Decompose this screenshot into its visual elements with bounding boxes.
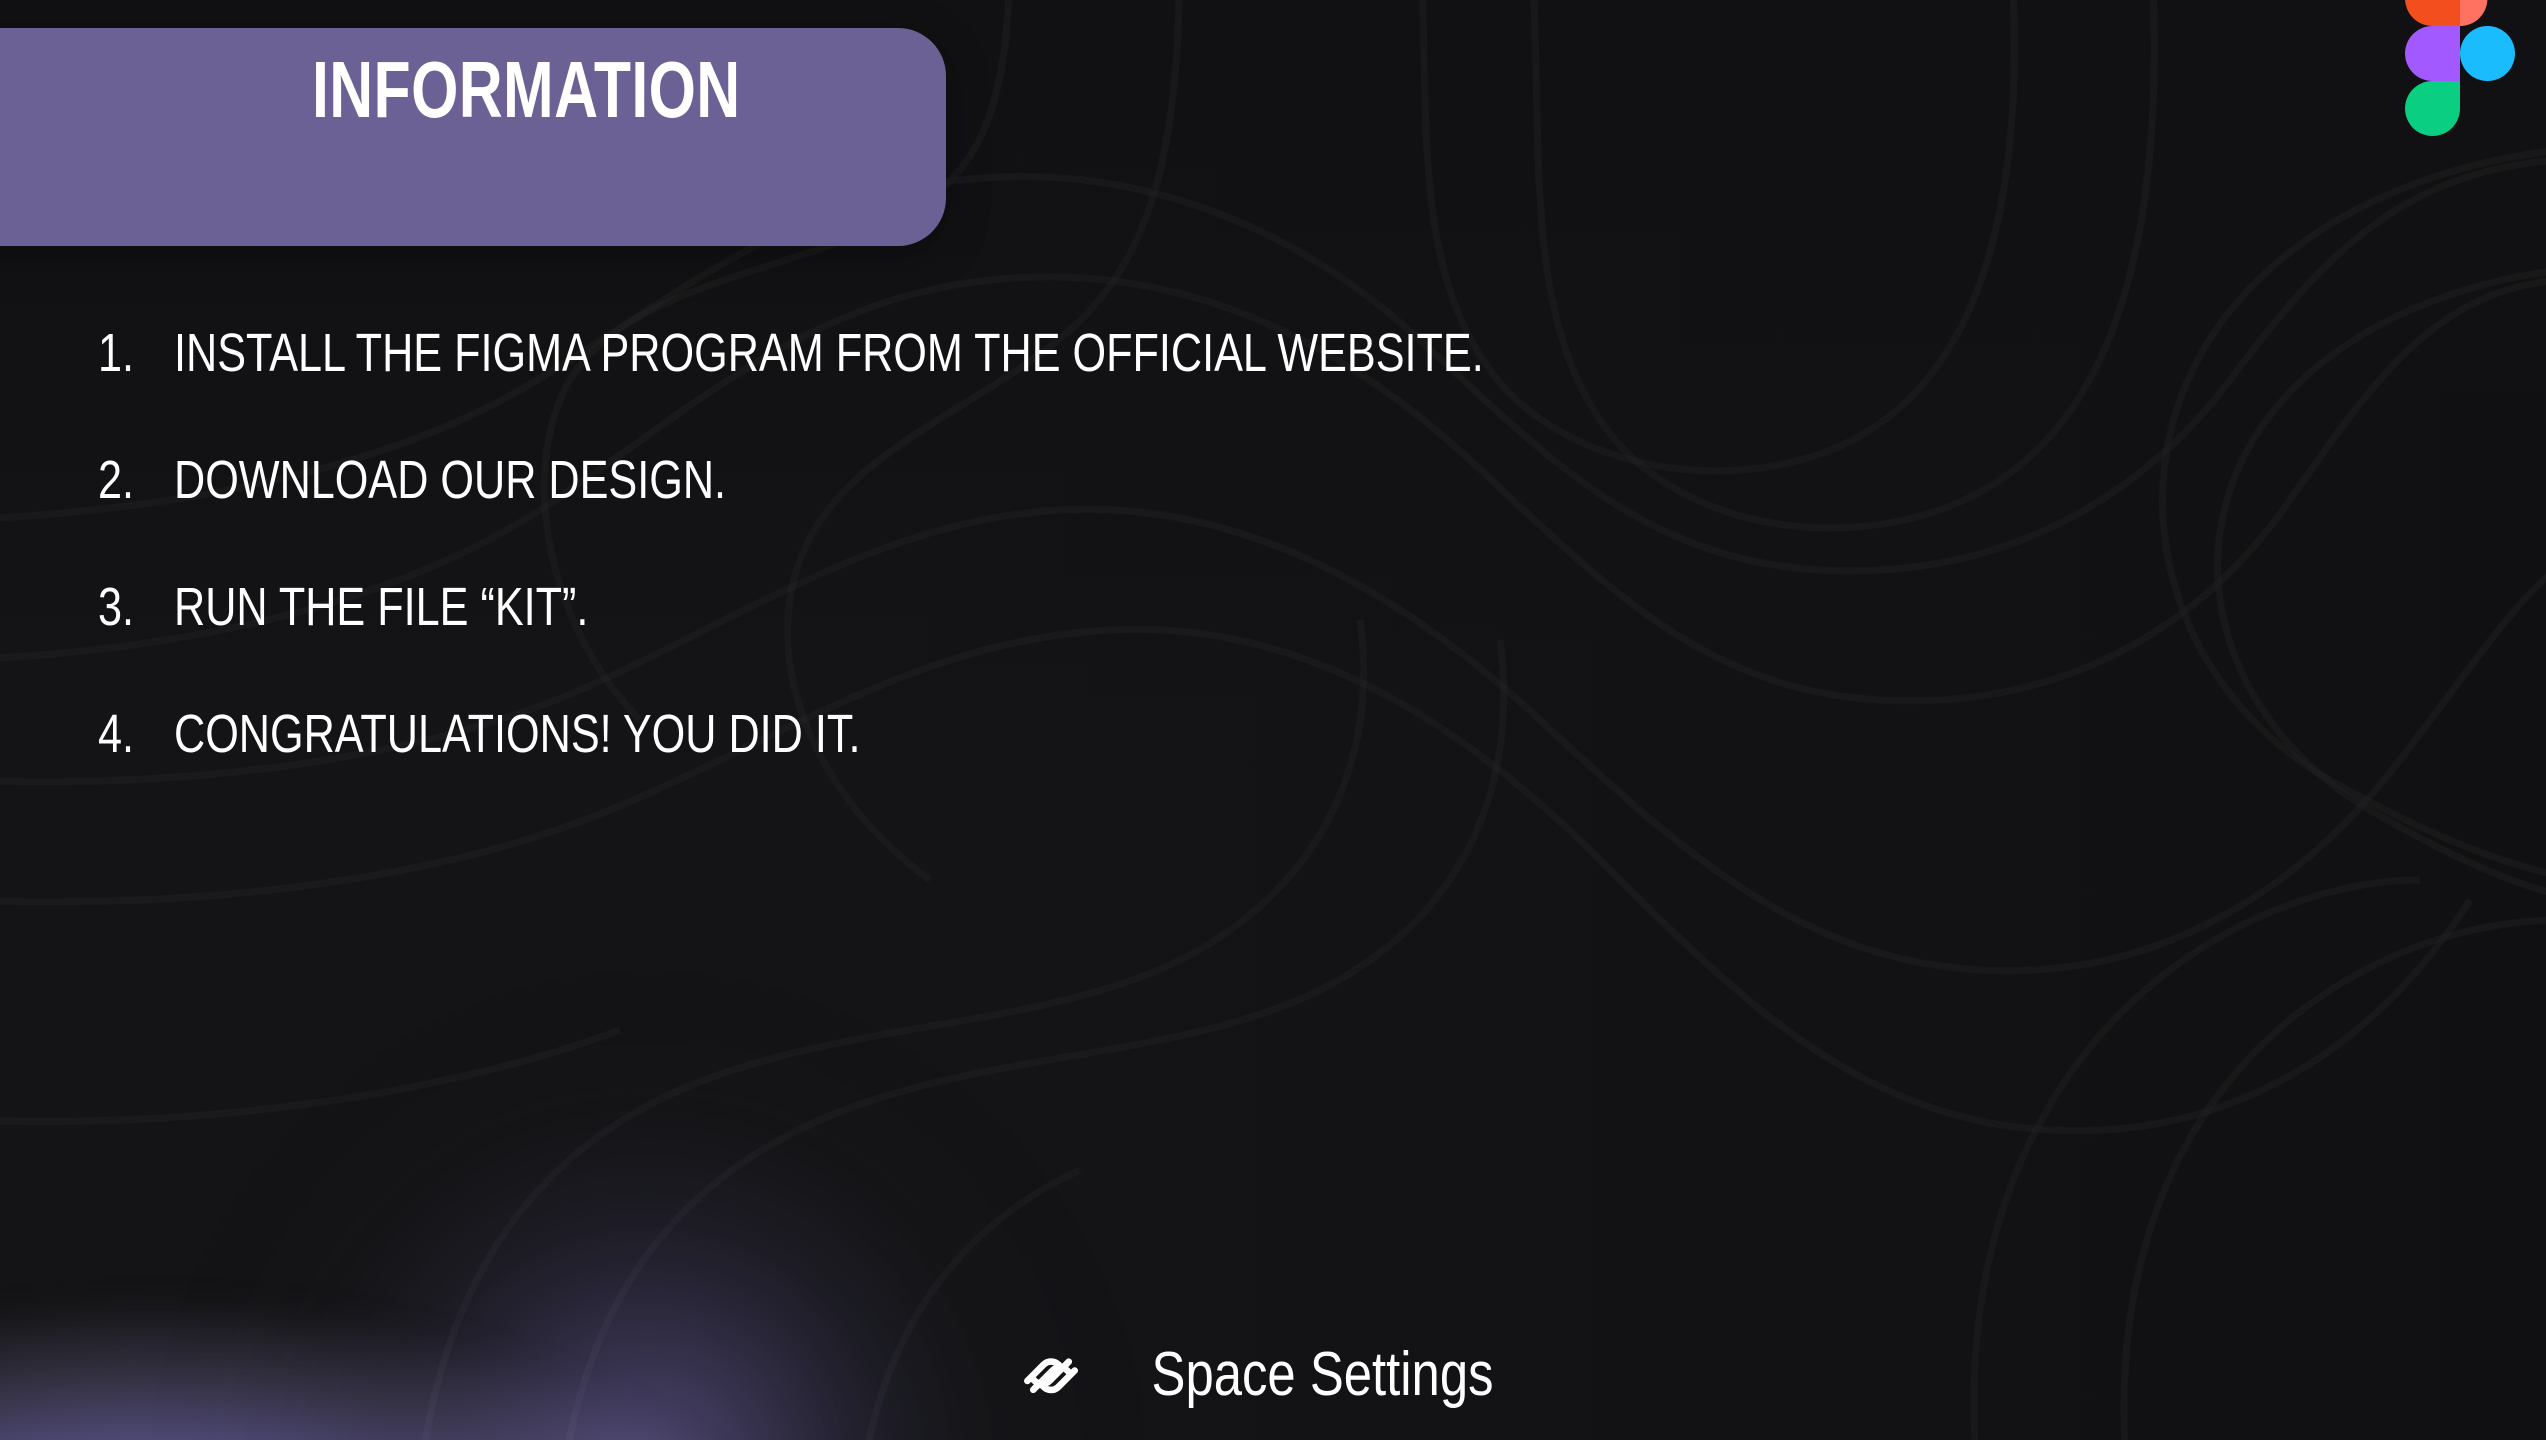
squarespace-logo-icon [1014, 1338, 1088, 1412]
instruction-list: 1. INSTALL THE FIGMA PROGRAM FROM THE OF… [98, 326, 2198, 834]
list-item-label: DOWNLOAD OUR DESIGN. [174, 453, 726, 507]
presentation-slide: INFORMATION 1. INSTALL THE FIGMA PROGRAM… [0, 0, 2546, 1440]
footer-brand: Space Settings [0, 1338, 2546, 1412]
figma-logo-icon [2405, 0, 2515, 136]
list-item: 2. DOWNLOAD OUR DESIGN. [98, 453, 2198, 580]
page-title: INFORMATION [312, 50, 741, 130]
list-item-label: RUN THE FILE “KIT”. [174, 580, 588, 634]
list-item-label: INSTALL THE FIGMA PROGRAM FROM THE OFFIC… [174, 326, 1484, 380]
list-item: 1. INSTALL THE FIGMA PROGRAM FROM THE OF… [98, 326, 2198, 453]
list-item: 3. RUN THE FILE “KIT”. [98, 580, 2198, 707]
footer-brand-label: Space Settings [1152, 1344, 1494, 1406]
list-item-number: 4. [98, 707, 159, 761]
list-item-number: 2. [98, 453, 159, 507]
list-item-label: CONGRATULATIONS! YOU DID IT. [174, 707, 860, 761]
list-item-number: 3. [98, 580, 159, 634]
list-item: 4. CONGRATULATIONS! YOU DID IT. [98, 707, 2198, 834]
list-item-number: 1. [98, 326, 159, 380]
